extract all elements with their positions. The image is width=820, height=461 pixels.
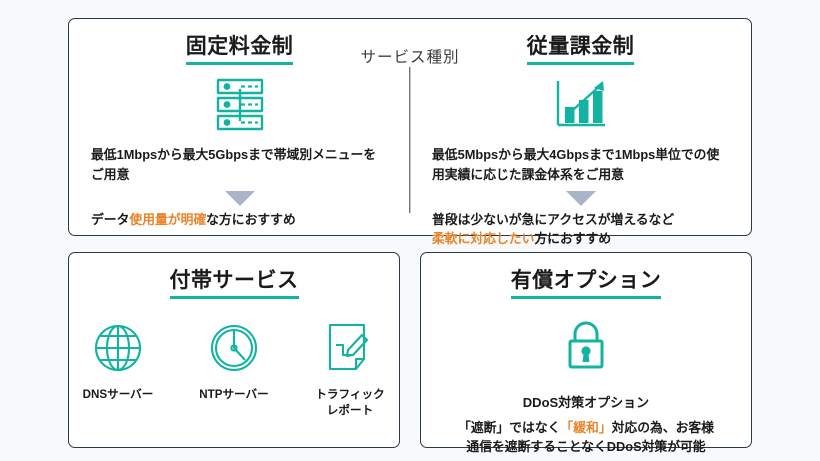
diagram-canvas: サービス種別 固定料金制 — [0, 0, 820, 461]
paid-option-desc-line2: 通信を遮断することなくDDoS対策が可能 — [458, 437, 714, 456]
metered-rate-rec-suffix: 方におすすめ — [534, 231, 611, 246]
included-services-list: DNSサーバー NTPサーバー — [75, 321, 393, 418]
included-services-card: 付帯サービス DNSサーバー — [68, 252, 400, 448]
paid-option-desc-part1: 「遮断」ではなく — [458, 420, 560, 435]
fixed-rate-rec-suffix: な方におすすめ — [206, 212, 296, 227]
bar-chart-growth-icon — [551, 77, 611, 133]
globe-icon — [91, 321, 145, 375]
metered-rate-heading-text: 従量課金制 — [527, 35, 635, 65]
included-service-ntp: NTPサーバー — [191, 321, 277, 418]
included-services-heading-text: 付帯サービス — [170, 269, 299, 299]
included-service-dns-label: DNSサーバー — [83, 387, 154, 403]
fixed-rate-heading: 固定料金制 — [186, 35, 294, 65]
down-arrow-icon — [566, 191, 596, 206]
clock-icon — [207, 321, 261, 375]
included-services-heading: 付帯サービス — [170, 269, 299, 299]
fixed-rate-recommendation: データ使用量が明確な方におすすめ — [91, 210, 388, 229]
service-types-card: サービス種別 固定料金制 — [68, 18, 752, 236]
included-service-traffic-report: トラフィック レポート — [307, 321, 393, 418]
metered-rate-description: 最低5Mbpsから最大4Gbpsまで1Mbps単位での使用実績に応じた課金体系を… — [432, 145, 729, 185]
metered-rate-heading: 従量課金制 — [527, 35, 635, 65]
fixed-rate-rec-prefix: データ — [91, 212, 129, 227]
paid-option-name: DDoS対策オプション — [523, 392, 649, 411]
paid-option-description: 「遮断」ではなく「緩和」対応の為、お客様 通信を遮断することなくDDoS対策が可… — [458, 418, 714, 456]
fixed-rate-rec-highlight: 使用量が明確 — [129, 212, 206, 227]
paid-option-desc-highlight: 「緩和」 — [560, 420, 611, 435]
paid-option-heading-text: 有償オプション — [511, 269, 662, 299]
paid-option-heading: 有償オプション — [511, 269, 662, 299]
metered-rate-recommendation: 普段は少ないが急にアクセスが増えるなど 柔軟に対応したい方におすすめ — [432, 210, 729, 248]
padlock-icon — [562, 319, 610, 376]
included-service-ntp-label: NTPサーバー — [199, 387, 268, 403]
fixed-rate-heading-text: 固定料金制 — [186, 35, 294, 65]
metered-rate-rec-highlight: 柔軟に対応したい — [432, 231, 534, 246]
fixed-rate-description: 最低1Mbpsから最大5Gbpsまで帯域別メニューをご用意 — [91, 145, 388, 185]
server-stack-icon — [208, 77, 272, 133]
metered-rate-rec-line1: 普段は少ないが急にアクセスが増えるなど — [432, 210, 729, 229]
paid-option-card: 有償オプション DDoS対策オプション 「遮断」ではなく「緩和」対応の為、お客様… — [420, 252, 752, 448]
document-pencil-icon — [323, 321, 377, 375]
paid-option-desc-part2: 対応の為、お客様 — [612, 420, 714, 435]
included-service-traffic-report-label: トラフィック レポート — [315, 387, 384, 418]
included-service-dns: DNSサーバー — [75, 321, 161, 418]
service-types-center-label: サービス種別 — [352, 45, 467, 67]
down-arrow-icon — [225, 191, 255, 206]
